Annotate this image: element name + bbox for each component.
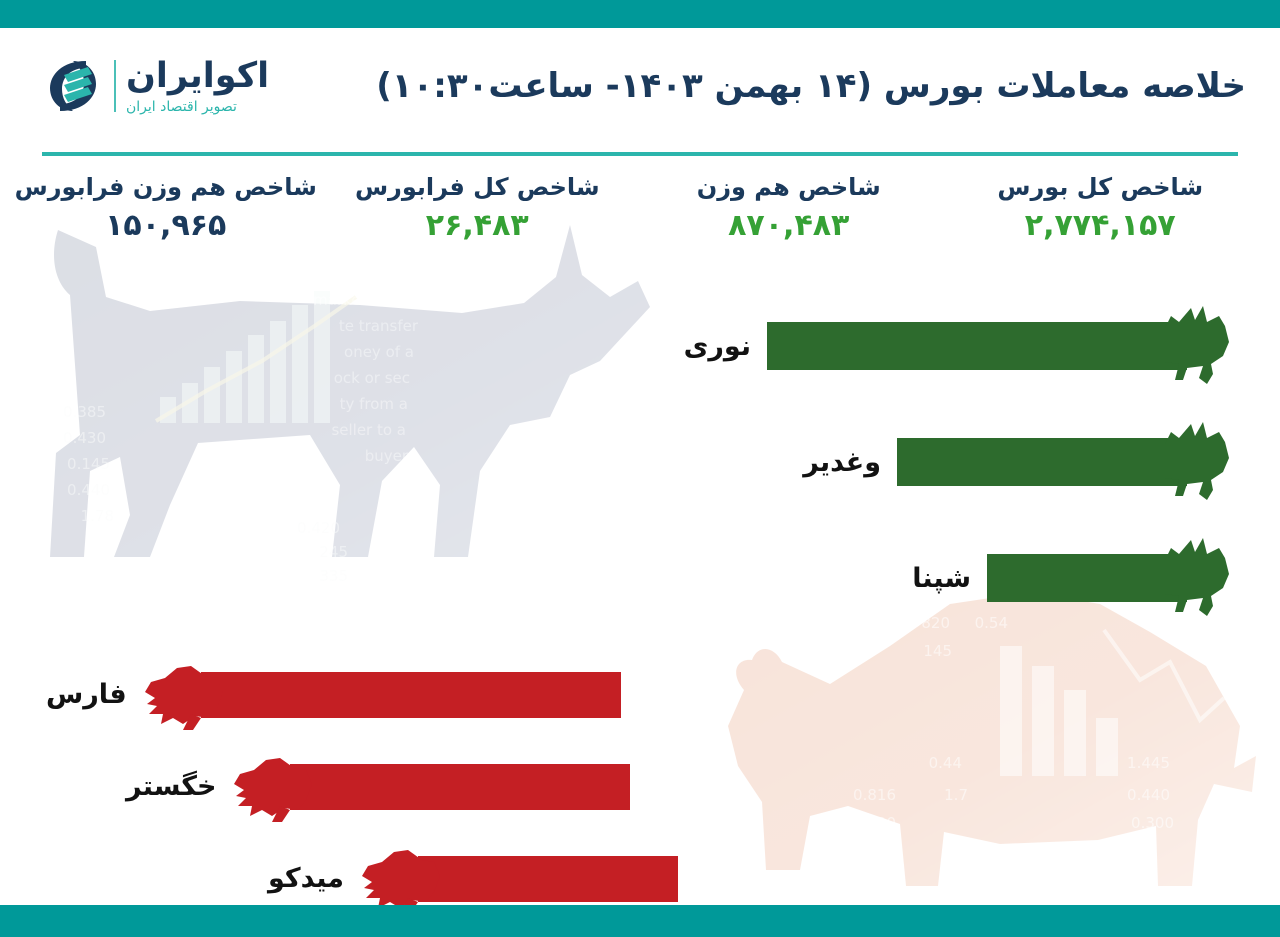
index-stat-equal-weight: شاخص هم وزن ۸۷۰,۴۸۳ bbox=[633, 172, 945, 268]
index-label: شاخص هم وزن فرابورس bbox=[10, 172, 322, 202]
chart-row-shapna[interactable]: شپنا bbox=[896, 532, 1232, 624]
index-label: شاخص هم وزن bbox=[633, 172, 945, 202]
bar-label: نوری bbox=[668, 331, 767, 362]
impact-bar-chart: نوری وغدیر شپنا bbox=[0, 278, 1280, 898]
eco-iran-swoosh-logo-icon bbox=[42, 55, 104, 117]
bar-label: فارس bbox=[30, 679, 143, 710]
bull-head-icon bbox=[767, 300, 1232, 392]
bear-head-icon bbox=[143, 648, 621, 740]
index-label: شاخص کل فرابورس bbox=[322, 172, 634, 202]
header-divider bbox=[42, 152, 1238, 156]
index-value: ۲۶,۴۸۳ bbox=[322, 209, 634, 242]
bull-head-icon bbox=[897, 416, 1232, 508]
index-value: ۲,۷۷۴,۱۵۷ bbox=[945, 209, 1257, 242]
bar-label: شپنا bbox=[896, 563, 987, 594]
chart-row-fars[interactable]: فارس bbox=[30, 648, 621, 740]
index-value: ۱۵۰,۹۶۵ bbox=[10, 209, 322, 242]
chart-row-nouri[interactable]: نوری bbox=[668, 300, 1232, 392]
brand-tagline: تصویر اقتصاد ایران bbox=[126, 100, 237, 114]
bar-label: خگستر bbox=[110, 771, 232, 802]
top-accent-bar bbox=[0, 0, 1280, 28]
index-stat-bourse-total: شاخص کل بورس ۲,۷۷۴,۱۵۷ bbox=[945, 172, 1257, 268]
bar-nouri[interactable] bbox=[767, 300, 1232, 392]
index-stat-farabourse-equal-weight: شاخص هم وزن فرابورس ۱۵۰,۹۶۵ bbox=[10, 172, 322, 268]
chart-row-khgostar[interactable]: خگستر bbox=[110, 740, 630, 832]
page-header: خلاصه معاملات بورس (۱۴ بهمن ۱۴۰۳- ساعت۱۰… bbox=[0, 30, 1280, 142]
bottom-accent-bar bbox=[0, 905, 1280, 937]
bar-label: وغدیر bbox=[787, 447, 897, 478]
bar-label: میدکو bbox=[252, 863, 360, 894]
chart-row-vaghadir[interactable]: وغدیر bbox=[787, 416, 1232, 508]
page-title: خلاصه معاملات بورس (۱۴ بهمن ۱۴۰۳- ساعت۱۰… bbox=[269, 66, 1246, 106]
brand-text: اکوایران تصویر اقتصاد ایران bbox=[126, 59, 269, 114]
bear-head-icon bbox=[232, 740, 630, 832]
bull-head-icon bbox=[987, 532, 1232, 624]
index-stat-farabourse-total: شاخص کل فرابورس ۲۶,۴۸۳ bbox=[322, 172, 634, 268]
index-stats-row: شاخص کل بورس ۲,۷۷۴,۱۵۷ شاخص هم وزن ۸۷۰,۴… bbox=[0, 172, 1280, 268]
index-label: شاخص کل بورس bbox=[945, 172, 1257, 202]
brand-logo[interactable]: اکوایران تصویر اقتصاد ایران bbox=[42, 55, 269, 117]
brand-name: اکوایران bbox=[126, 59, 269, 94]
bar-shapna[interactable] bbox=[987, 532, 1232, 624]
bar-vaghadir[interactable] bbox=[897, 416, 1232, 508]
bar-khgostar[interactable] bbox=[232, 740, 630, 832]
index-value: ۸۷۰,۴۸۳ bbox=[633, 209, 945, 242]
brand-divider bbox=[114, 60, 116, 112]
bar-fars[interactable] bbox=[143, 648, 621, 740]
